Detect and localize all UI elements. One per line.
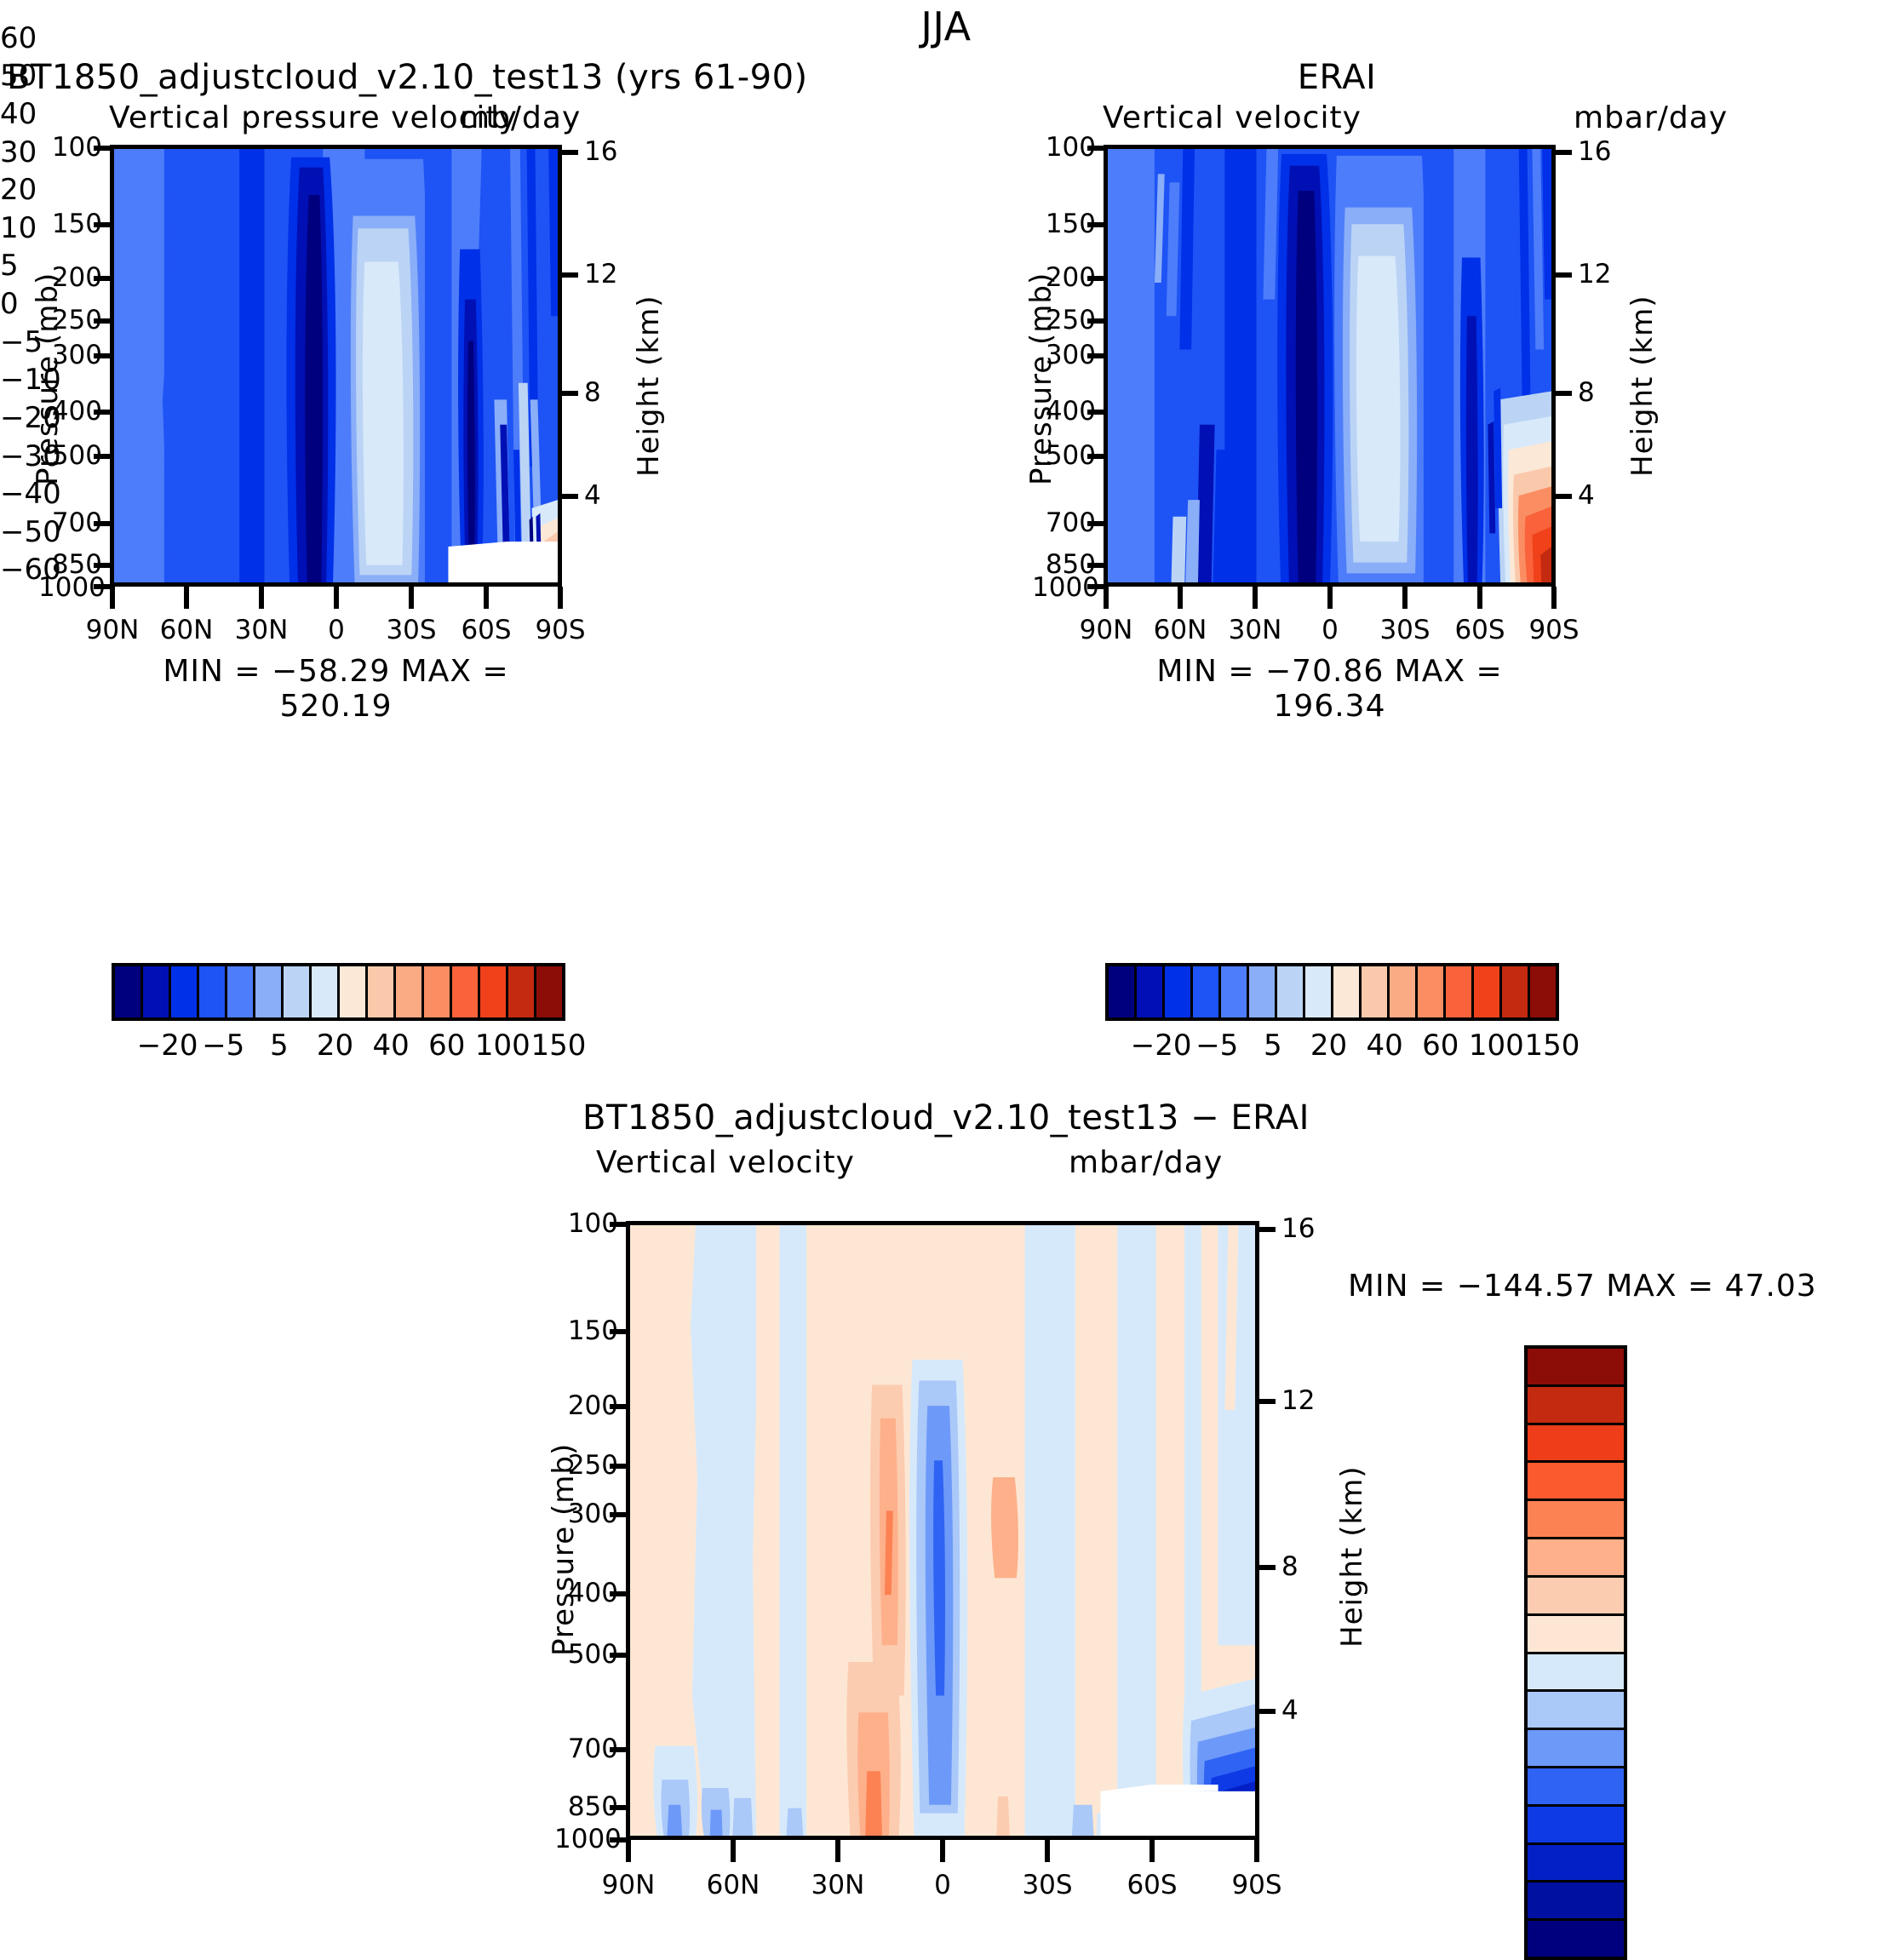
colorbar-swatch xyxy=(508,966,536,1017)
colorbar-swatch xyxy=(1528,1616,1624,1654)
colorbar-tick-label: 150 xyxy=(531,1029,587,1063)
colorbar-tick-label: −60 xyxy=(0,553,61,587)
ytick-mark xyxy=(1087,454,1108,459)
colorbar-tick-label: −5 xyxy=(0,325,43,359)
colorbar-swatch xyxy=(1474,966,1502,1017)
height-tick-mark xyxy=(1255,1709,1276,1714)
ytick-mark xyxy=(1087,563,1108,568)
panel-obs-htick-8: 8 xyxy=(1578,377,1595,408)
panel-model-colorbar[interactable] xyxy=(112,963,565,1021)
ytick-mark xyxy=(94,563,114,568)
colorbar-tick-label: −10 xyxy=(0,363,61,397)
height-tick-mark xyxy=(1551,272,1572,278)
panel-obs-minmax: MIN = −70.86 MAX = 196.34 xyxy=(1104,654,1556,724)
ytick-mark xyxy=(610,1805,630,1810)
xtick-mark xyxy=(1254,1840,1259,1862)
colorbar-swatch xyxy=(1277,966,1305,1017)
panel-obs-htick-12: 12 xyxy=(1578,259,1611,289)
colorbar-tick-label: −40 xyxy=(0,477,61,511)
height-tick-mark xyxy=(1255,1565,1276,1570)
panel-model-htick-4: 4 xyxy=(584,480,601,511)
colorbar-swatch xyxy=(424,966,452,1017)
colorbar-tick-label: −50 xyxy=(0,515,61,549)
colorbar-tick-label: 100 xyxy=(1469,1029,1524,1063)
ytick-mark xyxy=(1087,410,1108,415)
colorbar-swatch xyxy=(1137,966,1165,1017)
xtick-mark xyxy=(1150,1840,1155,1862)
ytick-mark xyxy=(610,1747,630,1752)
xtick-mark xyxy=(334,587,339,609)
colorbar-swatch xyxy=(255,966,284,1017)
panel-obs-units: mbar/day xyxy=(1574,100,1728,135)
panel-obs-yaxis-title: Pressure (mb) xyxy=(1024,272,1058,485)
colorbar-swatch xyxy=(171,966,199,1017)
panel-obs-height-title: Height (km) xyxy=(1625,295,1660,477)
colorbar-swatch xyxy=(1418,966,1446,1017)
panel-diff-xtick-30S: 30S xyxy=(996,1870,1098,1900)
xtick-mark xyxy=(731,1840,736,1862)
colorbar-swatch xyxy=(1193,966,1221,1017)
colorbar-swatch xyxy=(368,966,396,1017)
panel-diff-height-title: Height (km) xyxy=(1335,1465,1369,1648)
height-tick-mark xyxy=(1551,150,1572,155)
colorbar-tick-label: 20 xyxy=(317,1029,353,1063)
panel-diff-contour-field xyxy=(630,1225,1255,1836)
colorbar-swatch xyxy=(340,966,368,1017)
colorbar-swatch xyxy=(1333,966,1362,1017)
panel-diff-colorbar[interactable] xyxy=(1524,1345,1627,1960)
panel-model-var-label: Vertical pressure velocity xyxy=(109,100,518,135)
colorbar-tick-label: 60 xyxy=(1422,1029,1459,1063)
xtick-mark xyxy=(184,587,189,609)
ytick-mark xyxy=(610,1404,630,1409)
panel-model-plot[interactable] xyxy=(110,145,562,587)
colorbar-tick-label: 100 xyxy=(475,1029,530,1063)
colorbar-tick-label: 150 xyxy=(1525,1029,1580,1063)
panel-obs-plot[interactable] xyxy=(1104,145,1556,587)
ytick-mark xyxy=(610,1464,630,1469)
xtick-mark xyxy=(1045,1840,1050,1862)
xtick-mark xyxy=(409,587,414,609)
colorbar-swatch xyxy=(1221,966,1249,1017)
ytick-mark xyxy=(610,1222,630,1227)
ytick-mark xyxy=(1087,276,1108,281)
colorbar-tick-label: 30 xyxy=(0,135,37,169)
height-tick-mark xyxy=(1255,1227,1276,1232)
panel-model-colorbar-labels: −20−55204060100150 xyxy=(112,1029,559,1063)
ytick-mark xyxy=(1087,353,1108,358)
ytick-mark xyxy=(94,454,114,459)
panel-obs-htick-4: 4 xyxy=(1578,480,1595,511)
colorbar-swatch xyxy=(1528,1425,1624,1464)
ytick-mark xyxy=(1087,318,1108,324)
colorbar-swatch xyxy=(227,966,255,1017)
height-tick-mark xyxy=(1551,494,1572,499)
colorbar-swatch xyxy=(1528,1730,1624,1768)
xtick-mark xyxy=(484,587,489,609)
colorbar-swatch xyxy=(115,966,143,1017)
colorbar-swatch xyxy=(1249,966,1277,1017)
colorbar-swatch xyxy=(396,966,424,1017)
panel-diff-xtick-0: 0 xyxy=(892,1870,994,1900)
colorbar-tick-label: 40 xyxy=(0,97,37,131)
colorbar-swatch xyxy=(1446,966,1474,1017)
panel-diff-units: mbar/day xyxy=(1069,1145,1223,1180)
panel-diff-xtick-30N: 30N xyxy=(787,1870,889,1900)
colorbar-tick-label: −30 xyxy=(0,439,61,473)
colorbar-swatch xyxy=(1502,966,1530,1017)
colorbar-tick-label: −20 xyxy=(0,401,61,435)
colorbar-tick-label: −5 xyxy=(202,1029,244,1063)
colorbar-swatch xyxy=(1528,1883,1624,1921)
panel-model-htick-16: 16 xyxy=(584,136,617,167)
ytick-mark xyxy=(1087,146,1108,151)
panel-obs-colorbar[interactable] xyxy=(1105,963,1559,1021)
colorbar-swatch xyxy=(312,966,340,1017)
colorbar-tick-label: 0 xyxy=(0,287,19,321)
colorbar-swatch xyxy=(1390,966,1418,1017)
xtick-mark xyxy=(1477,587,1482,609)
panel-obs-ytick-1000: 1000 xyxy=(1032,572,1096,603)
panel-obs-colorbar-labels: −20−55204060100150 xyxy=(1105,1029,1552,1063)
panel-obs-contour-field xyxy=(1108,149,1551,582)
colorbar-swatch xyxy=(1528,1654,1624,1693)
panel-model-units: mb/day xyxy=(460,100,581,135)
colorbar-tick-label: 5 xyxy=(1264,1029,1282,1063)
colorbar-swatch xyxy=(1109,966,1137,1017)
ytick-mark xyxy=(610,1329,630,1334)
colorbar-tick-label: 40 xyxy=(372,1029,409,1063)
panel-model-height-title: Height (km) xyxy=(632,295,666,477)
colorbar-swatch xyxy=(1528,1501,1624,1539)
colorbar-swatch xyxy=(1528,1768,1624,1807)
colorbar-swatch xyxy=(1528,1349,1624,1387)
ytick-mark xyxy=(94,318,114,324)
panel-obs-var-label: Vertical velocity xyxy=(1103,100,1362,135)
colorbar-tick-label: 5 xyxy=(0,249,19,283)
colorbar-tick-label: −20 xyxy=(1131,1029,1192,1063)
height-tick-mark xyxy=(558,272,578,278)
panel-diff-xtick-60N: 60N xyxy=(682,1870,784,1900)
panel-diff-yaxis-title: Pressure (mb) xyxy=(547,1443,581,1656)
panel-diff-var-label: Vertical velocity xyxy=(596,1145,855,1180)
panel-diff-minmax: MIN = −144.57 MAX = 47.03 xyxy=(1348,1269,1817,1304)
colorbar-swatch xyxy=(284,966,312,1017)
panel-diff-plot[interactable] xyxy=(626,1221,1259,1840)
colorbar-swatch xyxy=(480,966,508,1017)
colorbar-swatch xyxy=(1528,1845,1624,1883)
colorbar-swatch xyxy=(1305,966,1333,1017)
ytick-mark xyxy=(1087,222,1108,227)
colorbar-tick-label: 60 xyxy=(428,1029,465,1063)
colorbar-tick-label: 50 xyxy=(0,59,37,93)
height-tick-mark xyxy=(558,494,578,499)
panel-diff-header: BT1850_adjustcloud_v2.10_test13 − ERAI xyxy=(350,1098,1542,1138)
colorbar-tick-label: 20 xyxy=(0,173,37,207)
xtick-mark xyxy=(1327,587,1333,609)
colorbar-swatch xyxy=(1528,1539,1624,1578)
colorbar-swatch xyxy=(1528,1463,1624,1501)
colorbar-swatch xyxy=(536,966,562,1017)
ytick-mark xyxy=(610,1512,630,1517)
panel-model-minmax: MIN = −58.29 MAX = 520.19 xyxy=(110,654,562,724)
colorbar-swatch xyxy=(1528,1578,1624,1616)
ytick-mark xyxy=(610,1591,630,1596)
ytick-mark xyxy=(94,410,114,415)
colorbar-tick-label: 40 xyxy=(1366,1029,1402,1063)
panel-obs-htick-16: 16 xyxy=(1578,136,1611,167)
colorbar-tick-label: −20 xyxy=(137,1029,198,1063)
ytick-mark xyxy=(94,222,114,227)
xtick-mark xyxy=(626,1840,631,1862)
colorbar-tick-label: −5 xyxy=(1195,1029,1238,1063)
height-tick-mark xyxy=(558,150,578,155)
height-tick-mark xyxy=(1551,391,1572,396)
panel-obs-header: ERAI xyxy=(1158,58,1516,97)
xtick-mark xyxy=(1253,587,1258,609)
panel-model-header: BT1850_adjustcloud_v2.10_test13 (yrs 61-… xyxy=(7,58,943,97)
colorbar-tick-label: 20 xyxy=(1310,1029,1347,1063)
colorbar-swatch xyxy=(1530,966,1556,1017)
panel-model-contour-field xyxy=(114,149,558,582)
colorbar-swatch xyxy=(1362,966,1390,1017)
xtick-mark xyxy=(1104,587,1109,609)
ytick-mark xyxy=(94,521,114,526)
colorbar-tick-label: 60 xyxy=(0,21,37,55)
xtick-mark xyxy=(835,1840,840,1862)
ytick-mark xyxy=(610,1653,630,1658)
xtick-mark xyxy=(110,587,115,609)
panel-model-htick-12: 12 xyxy=(584,259,617,289)
ytick-mark xyxy=(94,146,114,151)
xtick-mark xyxy=(1178,587,1183,609)
ytick-mark xyxy=(1087,521,1108,526)
panel-diff-xtick-60S: 60S xyxy=(1101,1870,1203,1900)
figure-season-title: JJA xyxy=(0,3,1892,49)
colorbar-swatch xyxy=(143,966,171,1017)
colorbar-swatch xyxy=(1528,1921,1624,1957)
xtick-mark xyxy=(1402,587,1408,609)
panel-diff-htick-16: 16 xyxy=(1281,1213,1315,1244)
colorbar-swatch xyxy=(1528,1387,1624,1425)
panel-model-xtick-90S: 90S xyxy=(509,615,611,645)
panel-diff-xtick-90N: 90N xyxy=(577,1870,679,1900)
ytick-mark xyxy=(94,276,114,281)
colorbar-tick-label: 10 xyxy=(0,211,37,245)
panel-diff-xtick-90S: 90S xyxy=(1206,1870,1308,1900)
height-tick-mark xyxy=(558,391,578,396)
panel-diff-ytick-1000: 1000 xyxy=(554,1824,618,1854)
colorbar-tick-label: 5 xyxy=(270,1029,289,1063)
panel-diff-htick-12: 12 xyxy=(1281,1385,1315,1416)
ytick-mark xyxy=(94,353,114,358)
xtick-mark xyxy=(1551,587,1557,609)
panel-model-htick-8: 8 xyxy=(584,377,601,408)
colorbar-swatch xyxy=(1528,1692,1624,1730)
colorbar-swatch xyxy=(1528,1807,1624,1845)
xtick-mark xyxy=(940,1840,945,1862)
colorbar-swatch xyxy=(199,966,227,1017)
height-tick-mark xyxy=(1255,1399,1276,1404)
panel-diff-htick-8: 8 xyxy=(1281,1551,1299,1582)
xtick-mark xyxy=(259,587,264,609)
panel-diff-htick-4: 4 xyxy=(1281,1695,1299,1726)
colorbar-swatch xyxy=(452,966,480,1017)
xtick-mark xyxy=(558,587,563,609)
panel-obs-xtick-90S: 90S xyxy=(1503,615,1605,645)
colorbar-swatch xyxy=(1165,966,1193,1017)
